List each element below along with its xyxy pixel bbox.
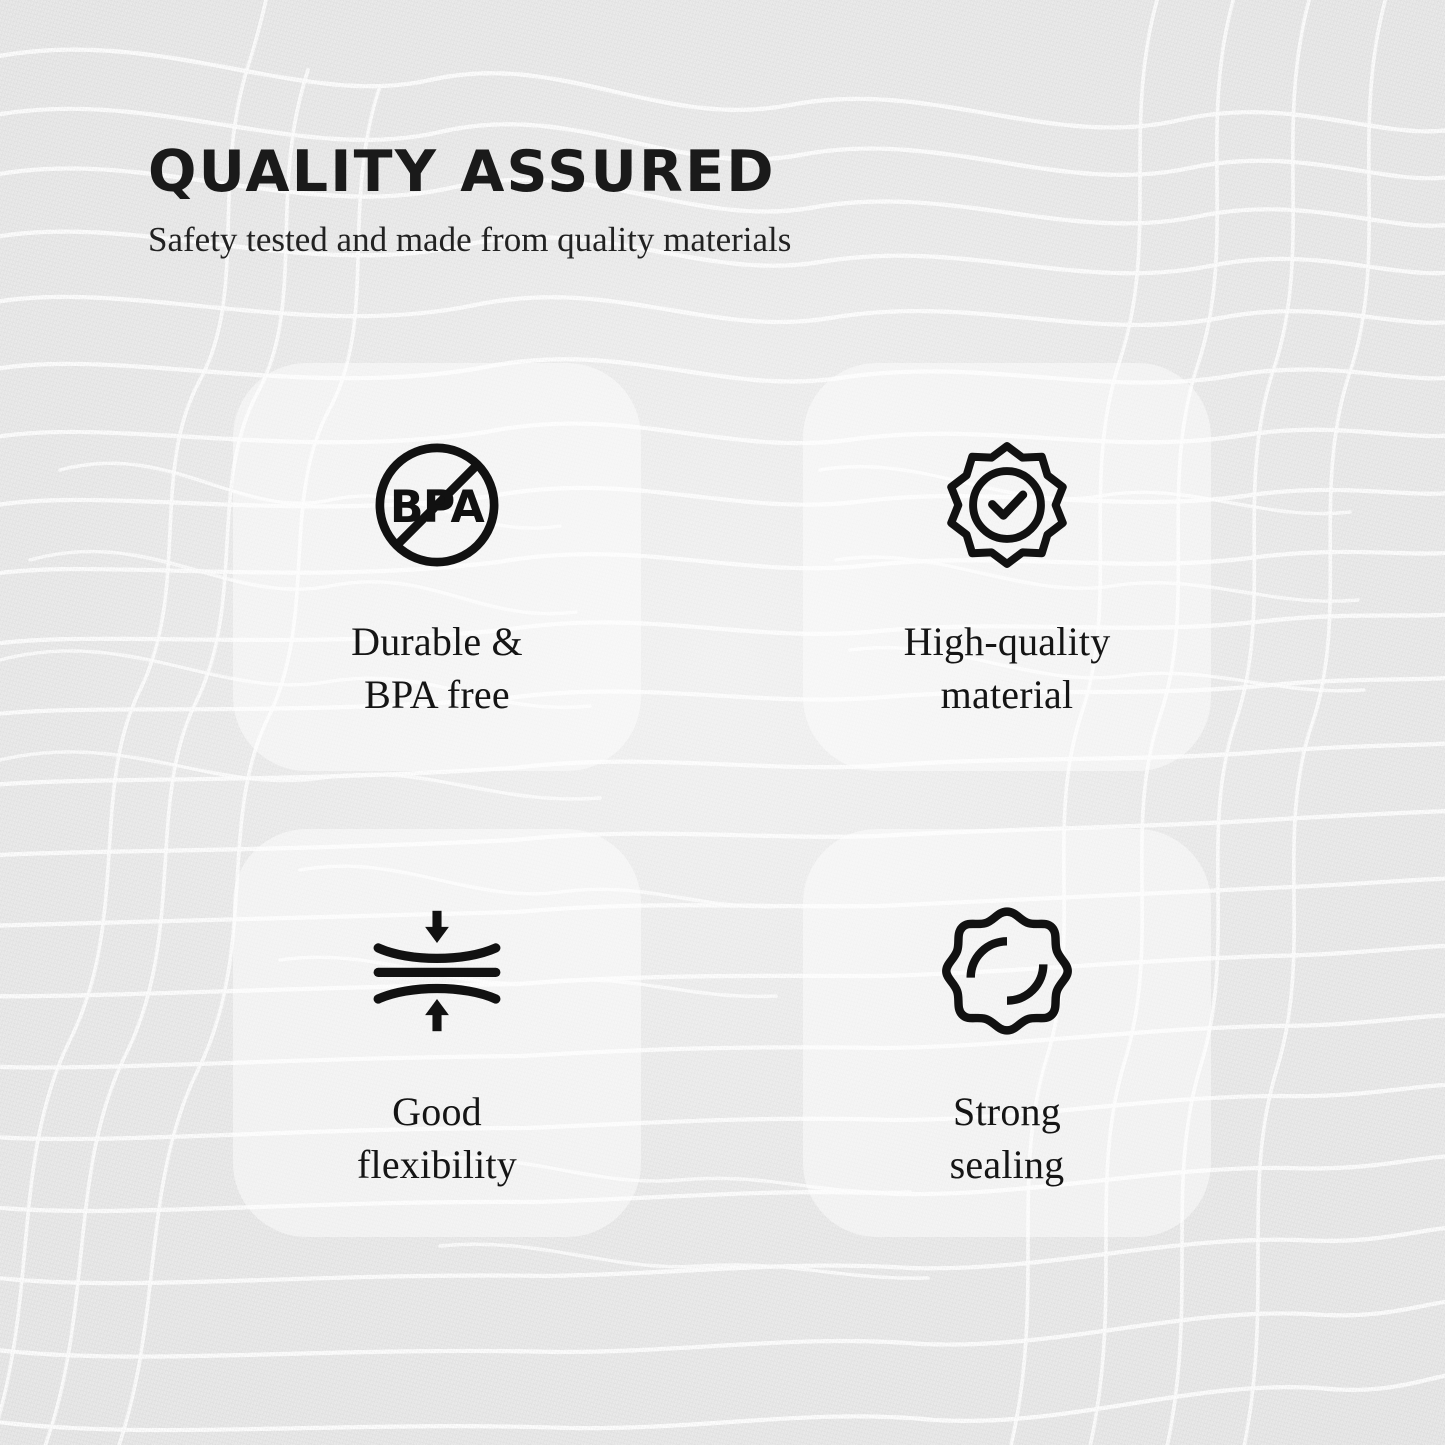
quality-badge-check-icon [933, 431, 1081, 579]
feature-card-durable-bpa-free: BPA Durable & BPA free [233, 363, 641, 771]
feature-label: Good flexibility [357, 1085, 517, 1191]
feature-card-strong-sealing: Strong sealing [803, 829, 1211, 1237]
feature-card-good-flexibility: Good flexibility [233, 829, 641, 1237]
feature-label: Strong sealing [950, 1085, 1065, 1191]
header: QUALITY ASSURED Safety tested and made f… [148, 143, 1298, 260]
seal-scallop-icon [933, 897, 1081, 1045]
bpa-free-icon-text: BPA [390, 482, 485, 533]
feature-label: High-quality material [904, 615, 1111, 721]
page-title: QUALITY ASSURED [148, 143, 1298, 203]
feature-label: Durable & BPA free [351, 615, 523, 721]
quality-assured-infographic: QUALITY ASSURED Safety tested and made f… [0, 0, 1445, 1445]
flexibility-compression-icon [363, 897, 511, 1045]
feature-card-high-quality-material: High-quality material [803, 363, 1211, 771]
bpa-free-icon: BPA [363, 431, 511, 579]
page-subtitle: Safety tested and made from quality mate… [148, 220, 1298, 260]
feature-grid: BPA Durable & BPA free High-quality mate… [233, 363, 1211, 1237]
